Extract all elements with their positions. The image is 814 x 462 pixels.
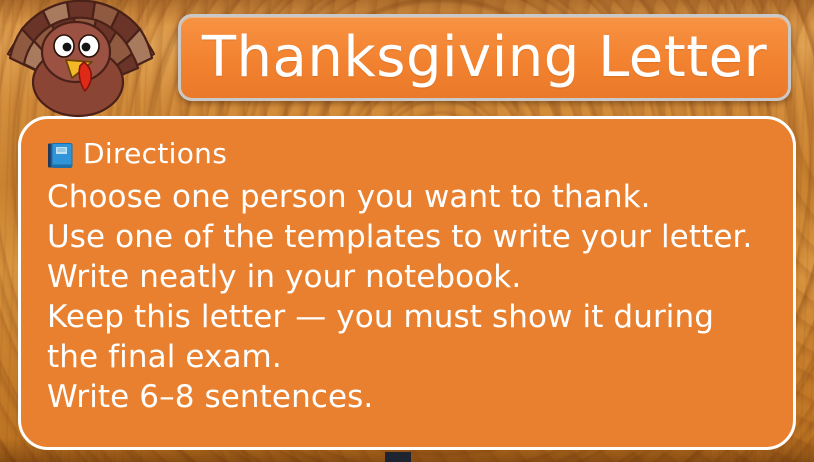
- slide-canvas: Thanksgiving Letter Directions Choose on…: [0, 0, 814, 462]
- directions-line: Use one of the templates to write your l…: [47, 217, 767, 257]
- blue-book-icon: [47, 142, 73, 169]
- directions-panel: Directions Choose one person you want to…: [18, 116, 796, 450]
- directions-line: Write 6–8 sentences.: [47, 377, 767, 417]
- title-bar: Thanksgiving Letter: [178, 14, 791, 101]
- turkey-icon: [0, 0, 164, 118]
- directions-line: Keep this letter — you must show it duri…: [47, 297, 767, 377]
- directions-heading: Directions: [47, 135, 767, 173]
- wood-dark-knot: [385, 452, 411, 462]
- directions-label: Directions: [83, 140, 227, 168]
- directions-line: Write neatly in your notebook.: [47, 257, 767, 297]
- directions-list: Choose one person you want to thank. Use…: [47, 177, 767, 417]
- directions-line: Choose one person you want to thank.: [47, 177, 767, 217]
- page-title: Thanksgiving Letter: [202, 30, 767, 86]
